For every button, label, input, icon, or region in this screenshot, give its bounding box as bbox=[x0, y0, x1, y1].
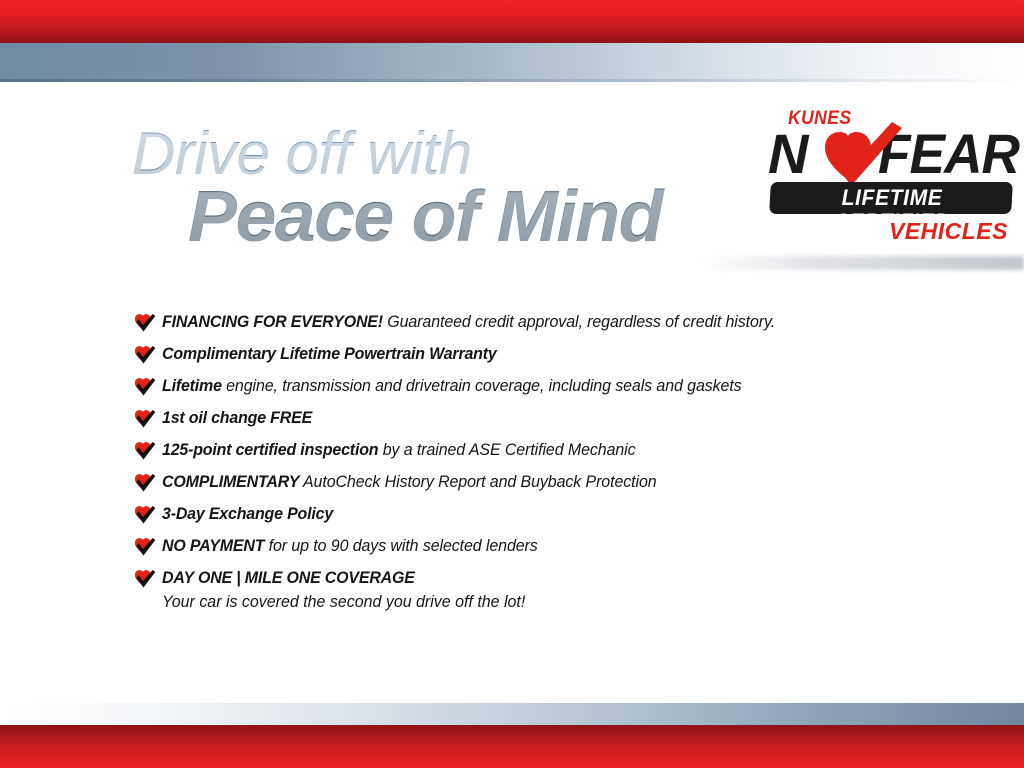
benefit-row: COMPLIMENTARY AutoCheck History Report a… bbox=[133, 470, 933, 502]
benefit-detail-text: engine, transmission and drivetrain cove… bbox=[222, 376, 742, 395]
benefit-text: FINANCING FOR EVERYONE! Guaranteed credi… bbox=[162, 310, 775, 333]
heart-checkmark-bullet-icon bbox=[133, 312, 157, 334]
heart-checkmark-bullet-icon bbox=[133, 568, 157, 590]
heart-checkmark-bullet-icon bbox=[133, 344, 157, 366]
benefit-detail-text: for up to 90 days with selected lenders bbox=[264, 536, 537, 555]
benefit-subtext: Your car is covered the second you drive… bbox=[162, 591, 525, 613]
heart-checkmark-bullet-icon bbox=[133, 536, 157, 558]
benefit-detail-text: Guaranteed credit approval, regardless o… bbox=[383, 312, 775, 331]
benefit-headline-text: DAY ONE | MILE ONE COVERAGE bbox=[162, 568, 415, 587]
benefit-row: DAY ONE | MILE ONE COVERAGEYour car is c… bbox=[133, 566, 933, 616]
benefit-row: 125-point certified inspection by a trai… bbox=[133, 438, 933, 470]
benefit-text: 125-point certified inspection by a trai… bbox=[162, 438, 636, 461]
heart-checkmark-bullet-icon bbox=[133, 408, 157, 430]
heart-checkmark-bullet-icon bbox=[133, 440, 157, 462]
benefit-text: 3-Day Exchange Policy bbox=[162, 502, 333, 525]
heart-checkmark-icon bbox=[810, 120, 906, 190]
benefit-text: NO PAYMENT for up to 90 days with select… bbox=[162, 534, 538, 557]
benefit-headline-text: Complimentary Lifetime Powertrain Warran… bbox=[162, 344, 497, 363]
heart-checkmark-bullet-icon bbox=[133, 312, 157, 334]
heart-checkmark-bullet-icon bbox=[133, 504, 157, 526]
bottom-red-banner-bar bbox=[0, 725, 1024, 768]
logo-main-wordmark: N FEAR bbox=[766, 126, 1014, 184]
heart-checkmark-bullet-icon bbox=[133, 376, 157, 398]
benefit-row: NO PAYMENT for up to 90 days with select… bbox=[133, 534, 933, 566]
benefit-row: Lifetime engine, transmission and drivet… bbox=[133, 374, 933, 406]
heart-checkmark-bullet-icon bbox=[133, 568, 157, 590]
heart-checkmark-bullet-icon bbox=[133, 472, 157, 494]
headline-divider-shadow bbox=[700, 256, 1024, 270]
benefit-headline-text: FINANCING FOR EVERYONE! bbox=[162, 312, 383, 331]
heart-checkmark-bullet-icon bbox=[133, 472, 157, 494]
benefit-row: 1st oil change FREE bbox=[133, 406, 933, 438]
heart-checkmark-bullet-icon bbox=[133, 408, 157, 430]
headline-line-two: Peace of Mind bbox=[188, 180, 743, 254]
benefit-text: Complimentary Lifetime Powertrain Warran… bbox=[162, 342, 497, 365]
benefit-text: DAY ONE | MILE ONE COVERAGE bbox=[162, 566, 525, 589]
benefits-list: FINANCING FOR EVERYONE! Guaranteed credi… bbox=[133, 310, 933, 616]
bottom-gray-gradient-bar bbox=[0, 703, 1024, 725]
benefit-text: 1st oil change FREE bbox=[162, 406, 312, 429]
top-gray-gradient-bar bbox=[0, 43, 1024, 82]
benefit-row: Complimentary Lifetime Powertrain Warran… bbox=[133, 342, 933, 374]
benefit-row: FINANCING FOR EVERYONE! Guaranteed credi… bbox=[133, 310, 933, 342]
benefit-headline-text: 3-Day Exchange Policy bbox=[162, 504, 333, 523]
heart-checkmark-bullet-icon bbox=[133, 344, 157, 366]
benefit-headline-text: Lifetime bbox=[162, 376, 222, 395]
benefit-headline-text: 125-point certified inspection bbox=[162, 440, 378, 459]
logo-vehicles-text: VEHICLES bbox=[889, 218, 1008, 245]
heart-checkmark-bullet-icon bbox=[133, 376, 157, 398]
benefit-detail-text: AutoCheck History Report and Buyback Pro… bbox=[299, 472, 656, 491]
top-red-banner-bar bbox=[0, 0, 1024, 43]
heart-checkmark-bullet-icon bbox=[133, 504, 157, 526]
benefit-headline-text: NO PAYMENT bbox=[162, 536, 264, 555]
logo-letter-n: N bbox=[768, 126, 806, 182]
benefit-detail-text: by a trained ASE Certified Mechanic bbox=[378, 440, 635, 459]
heart-checkmark-bullet-icon bbox=[133, 536, 157, 558]
headline-block: Drive off with Peace of Mind bbox=[132, 122, 732, 254]
kunes-no-fear-logo: KUNES N FEAR LIFETIME CERTIFIED VEHICLES bbox=[766, 108, 1014, 246]
benefit-headline-text: 1st oil change FREE bbox=[162, 408, 312, 427]
benefit-headline-text: COMPLIMENTARY bbox=[162, 472, 299, 491]
benefit-text: Lifetime engine, transmission and drivet… bbox=[162, 374, 742, 397]
benefit-row: 3-Day Exchange Policy bbox=[133, 502, 933, 534]
heart-checkmark-bullet-icon bbox=[133, 440, 157, 462]
benefit-text: COMPLIMENTARY AutoCheck History Report a… bbox=[162, 470, 657, 493]
